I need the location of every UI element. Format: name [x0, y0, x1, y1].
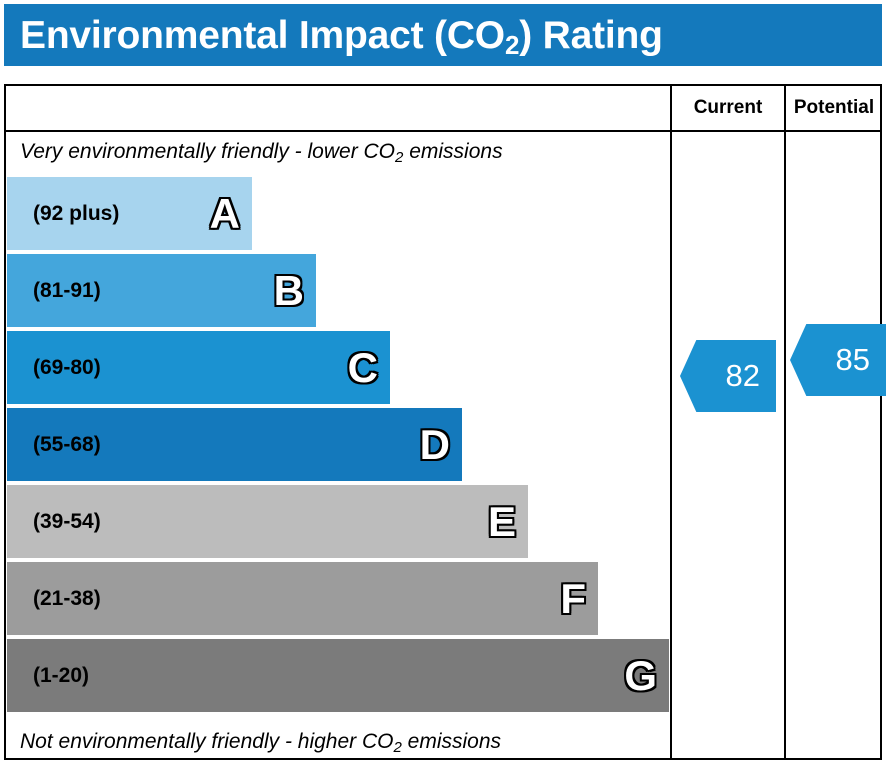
column-header-potential: Potential [786, 86, 882, 130]
page-title-suffix: ) Rating [519, 14, 663, 57]
rating-band-g-letter: G [624, 655, 657, 697]
chart-plot-area: Very environmentally friendly - lower CO… [6, 132, 670, 760]
rating-band-a-range: (92 plus) [33, 202, 119, 226]
column-header-current: Current [672, 86, 784, 130]
page-title-subscript: 2 [505, 30, 519, 60]
column-divider-potential [784, 86, 786, 758]
page-title: Environmental Impact (CO2) Rating [20, 16, 663, 55]
rating-bands: (92 plus) A (81-91) B (69-80) C (55-68) … [6, 176, 670, 715]
page-title-prefix: Environmental Impact (CO [20, 14, 505, 57]
note-not-friendly-subscript: 2 [394, 739, 402, 756]
note-very-friendly-subscript: 2 [395, 149, 403, 166]
note-not-friendly-suffix: emissions [402, 730, 501, 753]
current-rating-marker: 82 [680, 340, 776, 412]
rating-band-f: (21-38) F [6, 561, 599, 636]
rating-band-b-range: (81-91) [33, 279, 101, 303]
rating-band-f-range: (21-38) [33, 587, 101, 611]
rating-band-g: (1-20) G [6, 638, 670, 713]
rating-band-b: (81-91) B [6, 253, 317, 328]
rating-band-d: (55-68) D [6, 407, 463, 482]
column-divider-current [670, 86, 672, 758]
rating-band-b-letter: B [274, 270, 304, 312]
rating-band-c-letter: C [348, 347, 378, 389]
rating-band-d-range: (55-68) [33, 433, 101, 457]
note-very-friendly: Very environmentally friendly - lower CO… [20, 140, 503, 164]
rating-band-c: (69-80) C [6, 330, 391, 405]
note-not-friendly-prefix: Not environmentally friendly - higher CO [20, 730, 394, 753]
rating-band-e: (39-54) E [6, 484, 529, 559]
note-very-friendly-suffix: emissions [403, 140, 502, 163]
chart-title-bar: Environmental Impact (CO2) Rating [4, 4, 882, 66]
rating-band-e-range: (39-54) [33, 510, 101, 534]
rating-band-a: (92 plus) A [6, 176, 253, 251]
note-very-friendly-prefix: Very environmentally friendly - lower CO [20, 140, 395, 163]
epc-environmental-impact-chart: Environmental Impact (CO2) Rating Curren… [0, 0, 886, 764]
note-not-friendly: Not environmentally friendly - higher CO… [20, 730, 501, 754]
rating-band-g-range: (1-20) [33, 664, 89, 688]
rating-band-d-letter: D [420, 424, 450, 466]
rating-band-a-letter: A [210, 193, 240, 235]
rating-band-c-range: (69-80) [33, 356, 101, 380]
chart-frame: Current Potential Very environmentally f… [4, 84, 882, 760]
rating-band-e-letter: E [488, 501, 516, 543]
potential-rating-marker: 85 [790, 324, 886, 396]
rating-band-f-letter: F [560, 578, 586, 620]
